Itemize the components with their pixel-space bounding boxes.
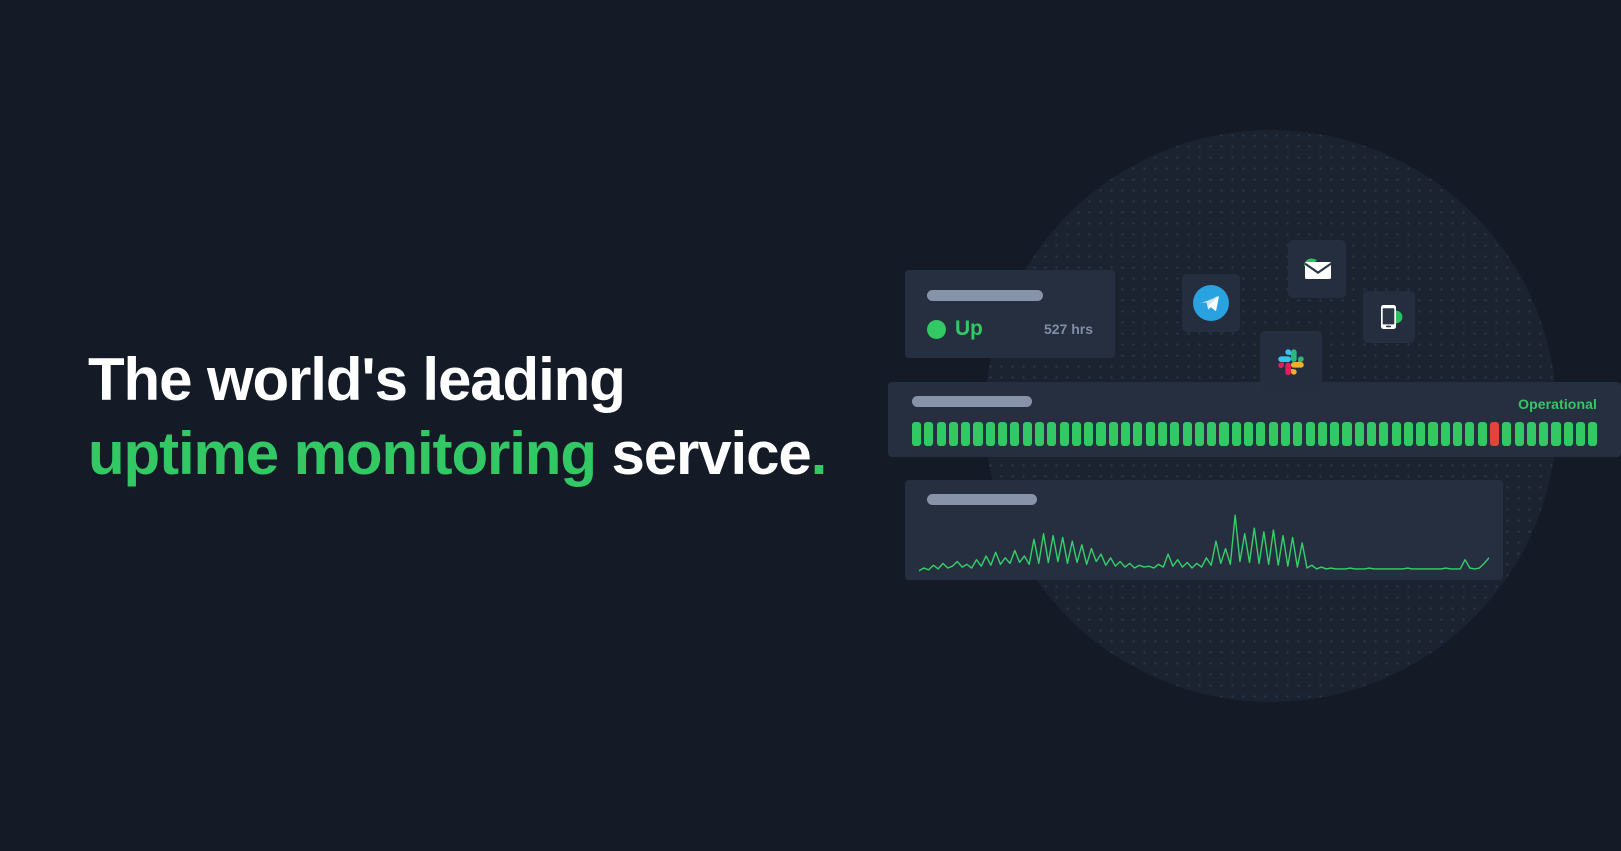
uptime-bar-up[interactable] [1465,422,1474,446]
uptime-bar-up[interactable] [1072,422,1081,446]
uptime-bar-up[interactable] [1183,422,1192,446]
uptime-bar-up[interactable] [1478,422,1487,446]
uptime-bars-row[interactable] [912,422,1597,446]
headline-line-1: The world's leading [88,345,868,415]
uptime-bar-up[interactable] [1453,422,1462,446]
uptime-bar-up[interactable] [1219,422,1228,446]
email-icon [1299,254,1335,284]
uptime-bar-up[interactable] [998,422,1007,446]
uptime-bar-up[interactable] [1269,422,1278,446]
uptime-card: Operational [888,382,1621,457]
uptime-bar-up[interactable] [1256,422,1265,446]
uptime-bar-up[interactable] [1084,422,1093,446]
uptime-bar-up[interactable] [1515,422,1524,446]
uptime-bar-up[interactable] [1379,422,1388,446]
headline-rest-text: service [596,420,811,487]
uptime-bar-up[interactable] [1010,422,1019,446]
hero-section: The world's leading uptime monitoring se… [0,0,1621,851]
headline-line-2: uptime monitoring service. [88,419,868,489]
uptime-bar-up[interactable] [1527,422,1536,446]
headline-accent-text: uptime monitoring [88,420,596,487]
uptime-bar-up[interactable] [1023,422,1032,446]
uptime-bar-up[interactable] [912,422,921,446]
response-chart-card [905,480,1503,580]
illustration-panel: Up 527 hrs Operational [880,0,1621,851]
uptime-bar-up[interactable] [1195,422,1204,446]
integration-tile-email[interactable] [1288,240,1346,298]
uptime-bar-up[interactable] [1551,422,1560,446]
headline-block: The world's leading uptime monitoring se… [88,345,868,489]
uptime-bar-up[interactable] [973,422,982,446]
uptime-bar-up[interactable] [1244,422,1253,446]
integration-tile-slack[interactable] [1260,331,1322,393]
uptime-bar-up[interactable] [1576,422,1585,446]
status-card-title-placeholder [927,290,1043,301]
uptime-bar-up[interactable] [1318,422,1327,446]
uptime-bar-up[interactable] [961,422,970,446]
uptime-bar-up[interactable] [1109,422,1118,446]
status-up-dot-icon [927,320,946,339]
uptime-bar-up[interactable] [1293,422,1302,446]
uptime-bar-up[interactable] [1232,422,1241,446]
uptime-bar-up[interactable] [1306,422,1315,446]
uptime-bar-up[interactable] [1428,422,1437,446]
uptime-bar-up[interactable] [1588,422,1597,446]
mobile-push-icon [1373,301,1405,333]
uptime-bar-up[interactable] [1207,422,1216,446]
telegram-icon [1193,285,1229,321]
uptime-bar-up[interactable] [1416,422,1425,446]
uptime-bar-up[interactable] [924,422,933,446]
uptime-bar-up[interactable] [1502,422,1511,446]
uptime-bar-up[interactable] [986,422,995,446]
status-duration-label: 527 hrs [1044,321,1093,337]
uptime-card-title-placeholder [912,396,1032,407]
uptime-bar-up[interactable] [1355,422,1364,446]
sparkline-chart [919,512,1489,574]
uptime-bar-up[interactable] [1564,422,1573,446]
uptime-bar-up[interactable] [1441,422,1450,446]
status-row: Up 527 hrs [927,317,1093,341]
uptime-bar-up[interactable] [1170,422,1179,446]
uptime-bar-up[interactable] [1158,422,1167,446]
headline-period: . [811,420,827,487]
uptime-bar-up[interactable] [1133,422,1142,446]
uptime-bar-up[interactable] [1392,422,1401,446]
uptime-bar-up[interactable] [1404,422,1413,446]
status-card: Up 527 hrs [905,270,1115,358]
operational-status-label: Operational [1518,396,1597,412]
slack-icon [1274,345,1308,379]
status-state-label: Up [955,317,983,341]
sparkline-svg [919,512,1489,574]
uptime-bar-up[interactable] [937,422,946,446]
uptime-bar-down[interactable] [1490,422,1499,446]
uptime-bar-up[interactable] [1367,422,1376,446]
uptime-bar-up[interactable] [1539,422,1548,446]
integration-tile-mobile[interactable] [1363,291,1415,343]
uptime-bar-up[interactable] [1281,422,1290,446]
chart-card-title-placeholder [927,494,1037,505]
uptime-bar-up[interactable] [949,422,958,446]
uptime-bar-up[interactable] [1121,422,1130,446]
uptime-bar-up[interactable] [1342,422,1351,446]
headline-text-line1: The world's leading [88,346,625,413]
uptime-bar-up[interactable] [1047,422,1056,446]
uptime-bar-up[interactable] [1330,422,1339,446]
uptime-bar-up[interactable] [1035,422,1044,446]
uptime-bar-up[interactable] [1060,422,1069,446]
uptime-bar-up[interactable] [1096,422,1105,446]
uptime-bar-up[interactable] [1146,422,1155,446]
integration-tile-telegram[interactable] [1182,274,1240,332]
